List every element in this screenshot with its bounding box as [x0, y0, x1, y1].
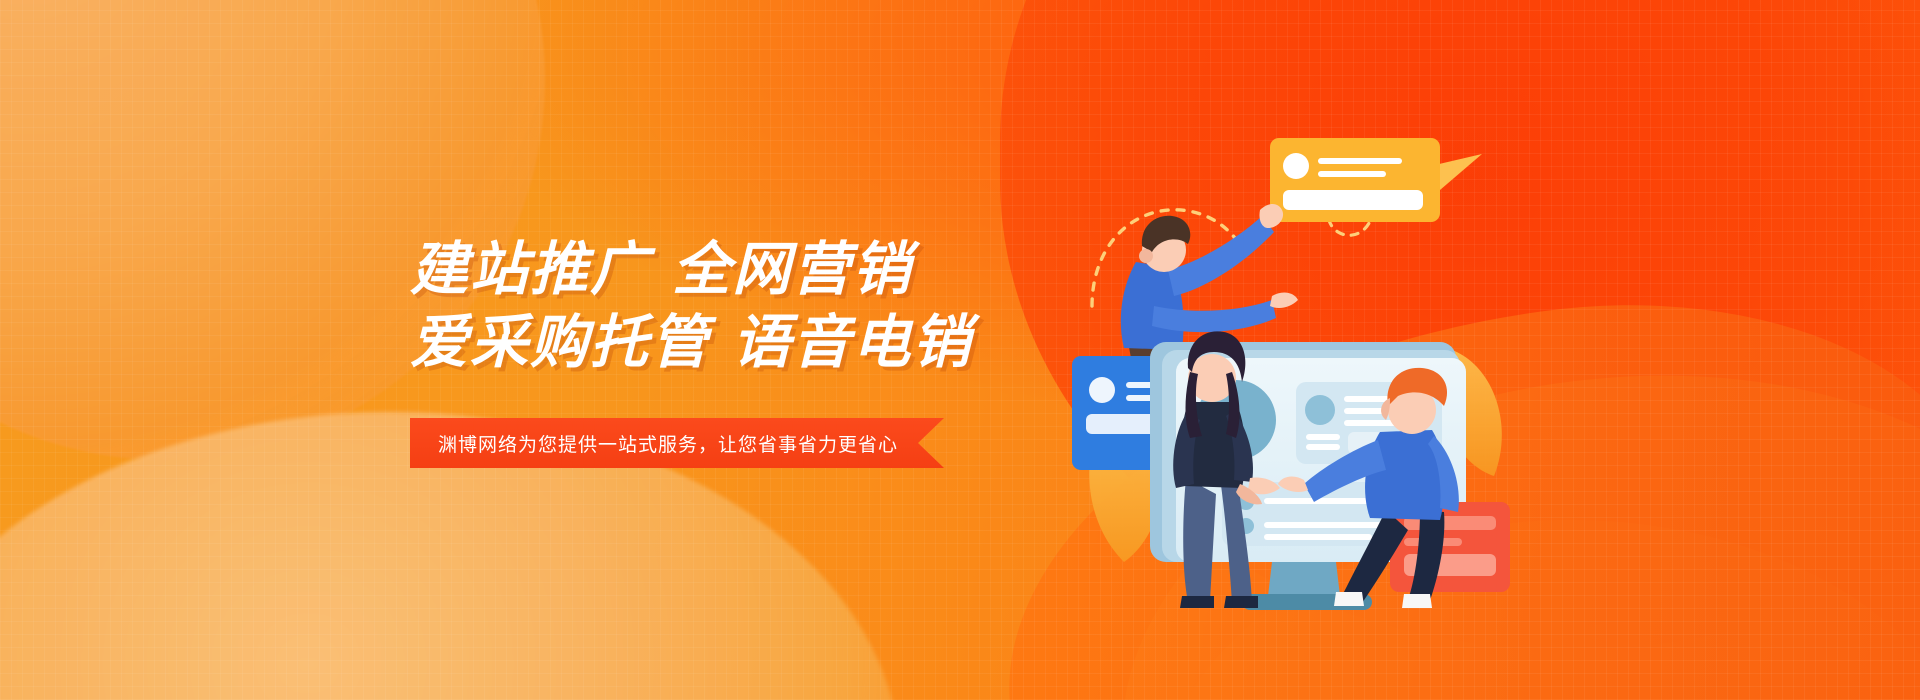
promotional-banner: 建站推广 全网营销 爱采购托管 语音电销 渊博网络为您提供一站式服务，让您省事省… [0, 0, 1920, 700]
yellow-notification-card [1270, 138, 1440, 222]
tagline-text: 渊博网络为您提供一站式服务，让您省事省力更省心 [438, 430, 898, 457]
headline-line-2: 爱采购托管 语音电销 [410, 309, 1050, 376]
tagline-ribbon: 渊博网络为您提供一站式服务，让您省事省力更省心 [410, 418, 944, 468]
headline-line-1: 建站推广 全网营销 [410, 236, 1050, 303]
team-working-on-website-illustration [1090, 110, 1510, 600]
headline-block: 建站推广 全网营销 爱采购托管 语音电销 [410, 236, 1050, 377]
